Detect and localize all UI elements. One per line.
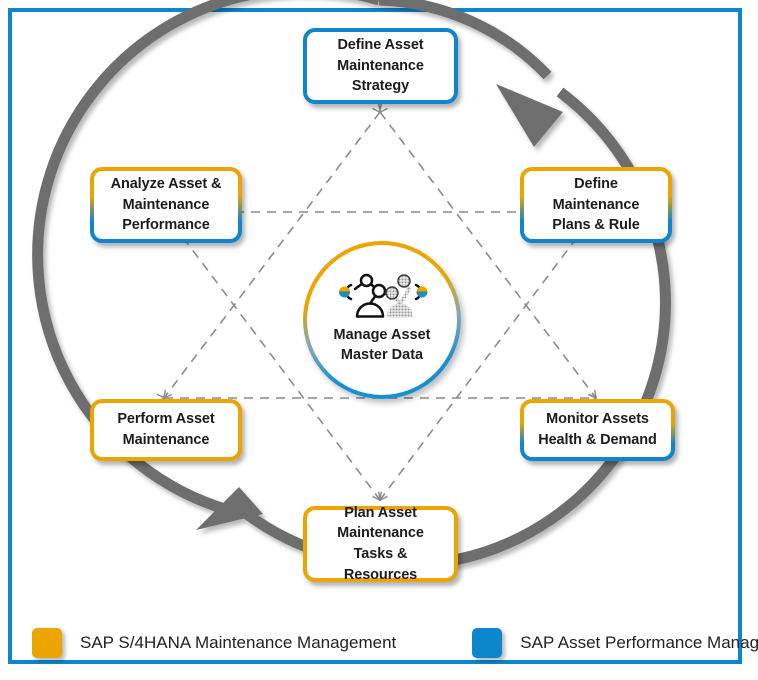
node-define-asset-maintenance-strategy[interactable]: Define Asset Maintenance Strategy: [303, 28, 458, 104]
node-plan-asset-maintenance-tasks-and-resources[interactable]: Plan Asset Maintenance Tasks & Resources: [303, 506, 458, 582]
node-line: Tasks & Resources: [315, 544, 446, 585]
hub-manage-asset-master-data[interactable]: Manage Asset Master Data: [303, 241, 461, 399]
node-line: Maintenance: [315, 523, 446, 544]
node-line: Perform Asset: [102, 409, 230, 430]
node-line: Plan Asset: [315, 503, 446, 524]
legend-item-apm: SAP Asset Performance Management: [472, 628, 758, 658]
node-line: Plans & Rule: [532, 215, 660, 236]
process-wheel-diagram: Define Asset Maintenance Strategy Define…: [0, 0, 758, 605]
hub-label-line: Master Data: [334, 346, 431, 366]
node-define-maintenance-plans-and-rule[interactable]: Define Maintenance Plans & Rule: [520, 167, 672, 243]
legend-item-s4hana: SAP S/4HANA Maintenance Management: [32, 628, 396, 658]
legend-swatch-blue: [472, 628, 502, 658]
node-line: Maintenance: [102, 430, 230, 451]
node-analyze-asset-and-maintenance-performance[interactable]: Analyze Asset & Maintenance Performance: [90, 167, 242, 243]
robot-arm-digital-twin-icon: [336, 267, 428, 319]
node-perform-asset-maintenance[interactable]: Perform Asset Maintenance: [90, 399, 242, 461]
legend-swatch-orange: [32, 628, 62, 658]
node-line: Strategy: [315, 76, 446, 97]
node-monitor-assets-health-and-demand[interactable]: Monitor Assets Health & Demand: [520, 399, 675, 461]
node-line: Define Asset: [315, 35, 446, 56]
legend-label: SAP Asset Performance Management: [520, 633, 758, 653]
node-line: Define: [532, 174, 660, 195]
node-line: Health & Demand: [532, 430, 663, 451]
node-line: Maintenance: [315, 56, 446, 77]
node-line: Maintenance: [102, 195, 230, 216]
legend-label: SAP S/4HANA Maintenance Management: [80, 633, 396, 653]
node-line: Performance: [102, 215, 230, 236]
node-line: Maintenance: [532, 195, 660, 216]
node-line: Analyze Asset &: [102, 174, 230, 195]
legend: SAP S/4HANA Maintenance Management SAP A…: [0, 605, 758, 680]
hub-label-line: Manage Asset: [334, 326, 431, 346]
hub-label: Manage Asset Master Data: [334, 326, 431, 365]
node-line: Monitor Assets: [532, 409, 663, 430]
ring-arrowhead-upper-right: [496, 84, 563, 147]
